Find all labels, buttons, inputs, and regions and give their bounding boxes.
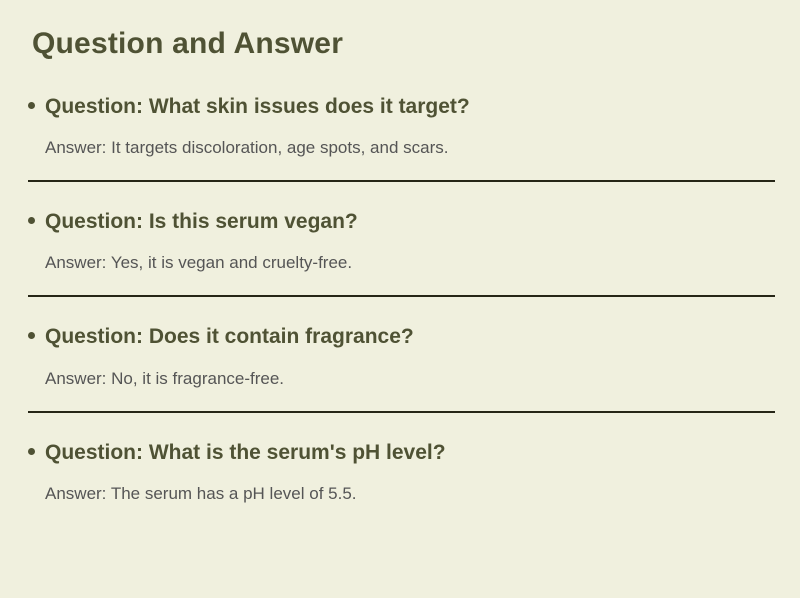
bullet-icon <box>28 448 35 455</box>
qa-question-text: Question: Is this serum vegan? <box>45 208 358 235</box>
spacer <box>28 182 772 208</box>
page-title: Question and Answer <box>0 0 800 63</box>
bullet-icon <box>28 332 35 339</box>
qa-question-text: Question: What skin issues does it targe… <box>45 93 470 120</box>
qa-answer-text: Answer: The serum has a pH level of 5.5. <box>28 466 772 505</box>
qa-item: Question: Does it contain fragrance? Ans… <box>0 297 800 412</box>
bullet-icon <box>28 102 35 109</box>
qa-question-text: Question: Does it contain fragrance? <box>45 323 414 350</box>
qa-answer-text: Answer: No, it is fragrance-free. <box>28 351 772 390</box>
qa-item: Question: Is this serum vegan? Answer: Y… <box>0 182 800 297</box>
qa-answer-text: Answer: It targets discoloration, age sp… <box>28 120 772 159</box>
qa-question-text: Question: What is the serum's pH level? <box>45 439 446 466</box>
qa-question: Question: Is this serum vegan? <box>28 208 772 235</box>
bullet-icon <box>28 217 35 224</box>
qa-question: Question: What skin issues does it targe… <box>28 93 772 120</box>
qa-item: Question: What is the serum's pH level? … <box>0 413 800 505</box>
spacer <box>28 413 772 439</box>
qa-list: Question: What skin issues does it targe… <box>0 63 800 506</box>
qa-question: Question: Does it contain fragrance? <box>28 323 772 350</box>
spacer <box>28 297 772 323</box>
qa-item: Question: What skin issues does it targe… <box>0 63 800 182</box>
qa-page: Question and Answer Question: What skin … <box>0 0 800 598</box>
qa-answer-text: Answer: Yes, it is vegan and cruelty-fre… <box>28 235 772 274</box>
spacer <box>28 63 772 93</box>
qa-question: Question: What is the serum's pH level? <box>28 439 772 466</box>
